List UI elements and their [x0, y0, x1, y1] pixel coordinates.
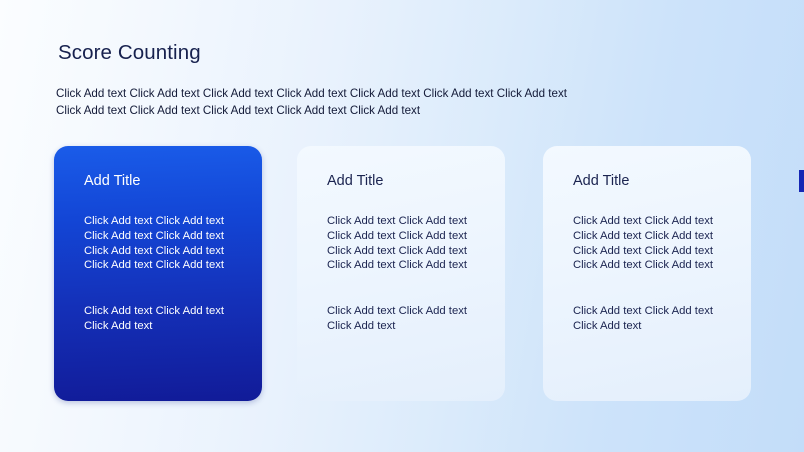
- content-card-3[interactable]: Add Title Click Add text Click Add text …: [543, 146, 751, 401]
- card-1-paragraph-2[interactable]: Click Add text Click Add text Click Add …: [84, 304, 232, 334]
- card-row: Add Title Click Add text Click Add text …: [54, 146, 754, 401]
- content-card-2[interactable]: Add Title Click Add text Click Add text …: [297, 146, 505, 401]
- content-card-1[interactable]: Add Title Click Add text Click Add text …: [54, 146, 262, 401]
- card-3-title[interactable]: Add Title: [573, 172, 723, 190]
- slide-canvas: Score Counting Click Add text Click Add …: [0, 0, 804, 452]
- card-2-paragraph-1[interactable]: Click Add text Click Add text Click Add …: [327, 214, 475, 273]
- text-cursor-caret: [799, 170, 804, 192]
- slide-subtitle[interactable]: Click Add text Click Add text Click Add …: [56, 86, 756, 119]
- card-1-title[interactable]: Add Title: [84, 172, 234, 190]
- subtitle-line-1: Click Add text Click Add text Click Add …: [56, 86, 756, 103]
- subtitle-line-2: Click Add text Click Add text Click Add …: [56, 103, 756, 120]
- card-2-title[interactable]: Add Title: [327, 172, 477, 190]
- card-1-paragraph-1[interactable]: Click Add text Click Add text Click Add …: [84, 214, 232, 273]
- card-3-paragraph-1[interactable]: Click Add text Click Add text Click Add …: [573, 214, 721, 273]
- page-title[interactable]: Score Counting: [58, 41, 201, 65]
- card-3-paragraph-2[interactable]: Click Add text Click Add text Click Add …: [573, 304, 721, 334]
- card-2-paragraph-2[interactable]: Click Add text Click Add text Click Add …: [327, 304, 475, 334]
